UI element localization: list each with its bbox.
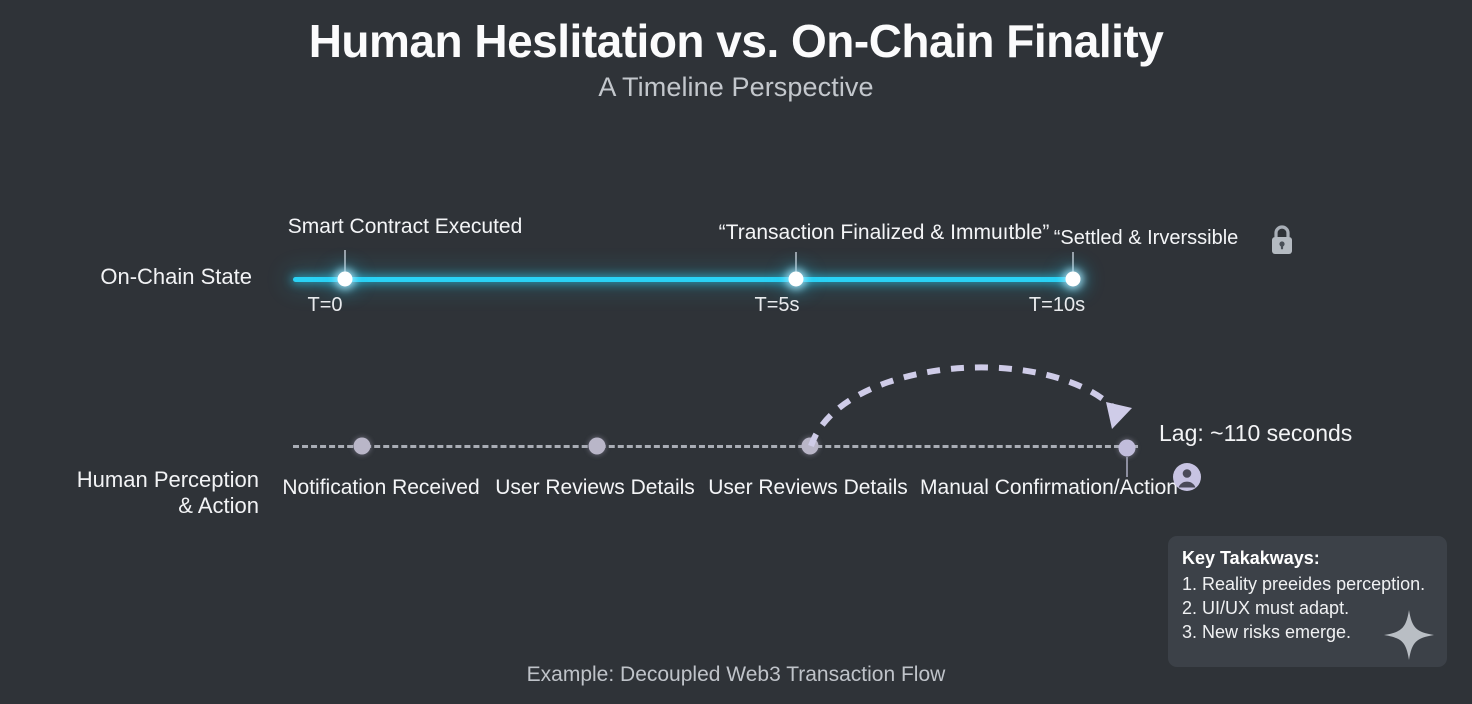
human-row-label-line2: & Action — [0, 493, 259, 519]
human-node-2-caption: User Reviews Details — [495, 476, 695, 500]
page-title: Human Heslitation vs. On-Chain Finality — [0, 14, 1472, 68]
sparkle-icon — [1383, 609, 1435, 661]
lag-arc — [780, 330, 1160, 470]
human-node-2[interactable] — [589, 438, 606, 455]
lag-label: Lag: ~110 seconds — [1159, 420, 1352, 447]
onchain-tick-1 — [344, 250, 346, 272]
onchain-node-2-caption: “Transaction Finalized & Immuıtble” — [719, 221, 1050, 245]
key-takeaways-panel: Key Takakways: 1. Reality preeides perce… — [1168, 536, 1447, 667]
human-row-label: Human Perception & Action — [0, 467, 259, 519]
onchain-node-3-caption: “Settled & Irverssible — [1054, 227, 1239, 250]
slide-header: Human Heslitation vs. On-Chain Finality … — [0, 14, 1472, 103]
onchain-node-2[interactable] — [789, 272, 804, 287]
user-avatar-icon — [1173, 463, 1201, 491]
onchain-row-label: On-Chain State — [0, 264, 252, 290]
onchain-node-3[interactable] — [1066, 272, 1081, 287]
human-row-label-line1: Human Perception — [0, 467, 259, 493]
onchain-node-3-time: T=10s — [1029, 294, 1085, 317]
page-subtitle: A Timeline Perspective — [0, 72, 1472, 103]
onchain-timeline-track — [293, 277, 1074, 282]
onchain-node-1[interactable] — [338, 272, 353, 287]
human-node-4-caption: Manual Confirmation/Action — [920, 476, 1178, 500]
footer-caption: Example: Decoupled Web3 Transaction Flow — [0, 663, 1472, 687]
lock-icon — [1268, 224, 1296, 256]
human-node-3-caption: User Reviews Details — [708, 476, 908, 500]
human-node-1[interactable] — [354, 438, 371, 455]
human-node-1-caption: Notification Received — [282, 476, 479, 500]
onchain-node-1-caption: Smart Contract Executed — [288, 215, 523, 239]
onchain-node-1-time: T=0 — [307, 294, 342, 317]
key-takeaway-item: 1. Reality preeides perception. — [1182, 572, 1433, 596]
onchain-node-2-time: T=5s — [754, 294, 799, 317]
key-takeaways-title: Key Takakways: — [1182, 548, 1433, 569]
